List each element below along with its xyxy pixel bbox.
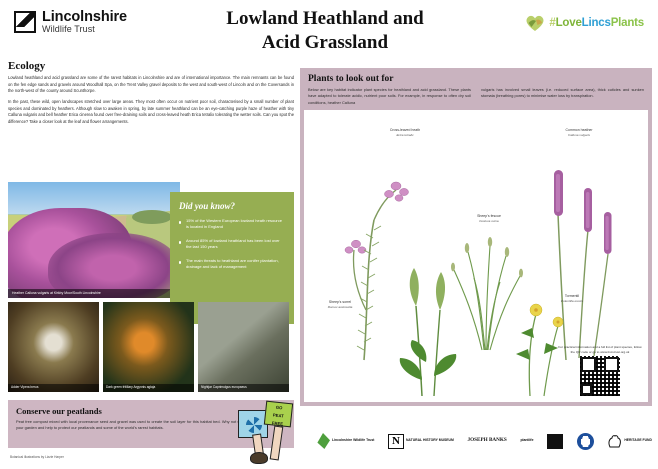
poster-root: Lincolnshire Wildlife Trust Lowland Heat… [0, 0, 658, 469]
glove-icon [250, 452, 268, 464]
nightjar-photo: Nightjar Caprimulgus europaeus [198, 302, 289, 392]
go-peat-free-placard: GO PEAT FREE [264, 401, 293, 428]
list-item: The main threats to heathland are conife… [179, 258, 285, 271]
joseph-banks-partner-logo: JOSEPH BANKS [467, 438, 506, 443]
org-name: Lincolnshire [42, 10, 127, 25]
campaign-word-lincs: Lincs [582, 17, 611, 29]
did-you-know-heading: Did you know? [179, 201, 285, 211]
plant-label-common-heather: Common heather Calluna vulgaris [544, 128, 614, 137]
plants-heading: Plants to look out for [308, 74, 644, 84]
plant-scientific-name: Calluna vulgaris [544, 133, 614, 137]
common-heather-illustration [554, 170, 612, 360]
ecology-section: Ecology Lowland heathland and acid grass… [8, 60, 294, 129]
partner-label: JOSEPH BANKS [467, 438, 506, 443]
plant-scientific-name: Festuca ovina [456, 219, 522, 223]
photo-trees [132, 210, 172, 224]
national-lottery-partner-logo [577, 433, 594, 450]
ecology-paragraph-2: In the past, these wild, open landscapes… [8, 99, 294, 126]
poster-header: Lincolnshire Wildlife Trust Lowland Heat… [0, 0, 658, 52]
park-mark-icon [547, 434, 563, 449]
cross-leaved-heath-illustration [345, 182, 409, 360]
plants-panel: Plants to look out for Below are key hab… [300, 68, 652, 406]
national-park-partner-logo [547, 434, 563, 449]
page-title-line2: Acid Grassland [160, 31, 490, 55]
partner-label: plantlife [520, 439, 533, 443]
plants-intro-col2: vulgaris has involved small leaves (i.e.… [481, 87, 644, 106]
qr-block[interactable]: For practical information and a full lis… [558, 345, 642, 396]
ecology-heading: Ecology [8, 60, 294, 72]
natural-history-museum-partner-logo: N NATURAL HISTORY MUSEUM [388, 434, 454, 449]
plants-intro-col1: Below are key habitat indicator plant sp… [308, 87, 471, 106]
lovelincsplants-logo: #LoveLincsPlants [525, 14, 644, 32]
thumb-caption: Nightjar Caprimulgus europaeus [198, 384, 289, 392]
partner-label: NATURAL HISTORY MUSEUM [406, 439, 454, 443]
org-subtitle: Wildlife Trust [42, 25, 127, 34]
sheeps-fescue-illustration [454, 246, 520, 350]
leaf-icon [316, 433, 330, 449]
plant-label-sheeps-sorrel: Sheep's sorrel Rumex acetosella [308, 300, 372, 309]
page-title: Lowland Heathland and Acid Grassland [160, 7, 490, 55]
plant-label-cross-leaved-heath: Cross-leaved heath Erica tetralix [370, 128, 440, 137]
plants-header: Plants to look out for [300, 68, 652, 84]
illustration-credit: Botanical illustrations by Lizzie Harper [10, 455, 64, 459]
tormentil-illustration [516, 304, 563, 396]
species-photo-strip: Adder Vipera berus Dark green fritillary… [8, 302, 294, 392]
plant-label-sheeps-fescue: Sheep's fescue Festuca ovina [456, 214, 522, 223]
badger-logo-icon [14, 11, 36, 33]
plant-scientific-name: Rumex acetosella [308, 305, 372, 309]
botanical-illustration-canvas: Cross-leaved heath Erica tetralix Common… [304, 110, 648, 402]
sheeps-fescue-seedheads [451, 237, 523, 277]
did-you-know-list: 15% of the Western European lowland heat… [179, 218, 285, 271]
ecology-paragraph-1: Lowland heathland and acid grassland are… [8, 75, 294, 95]
plants-intro: Below are key habitat indicator plant sp… [300, 87, 652, 106]
campaign-word-love: Love [556, 17, 582, 29]
adder-photo: Adder Vipera berus [8, 302, 99, 392]
lottery-fingers-icon [577, 433, 594, 450]
qr-code[interactable] [580, 356, 620, 396]
sheeps-sorrel-illustration [400, 268, 457, 396]
list-item: 15% of the Western European lowland heat… [179, 218, 285, 231]
arm-right-icon [270, 426, 284, 461]
campaign-word-plants: Plants [611, 17, 644, 29]
heritage-hand-icon [607, 434, 622, 448]
plant-scientific-name: Potentilla erecta [540, 299, 604, 303]
page-title-line1: Lowland Heathland and [160, 7, 490, 31]
partner-label: Lincolnshire Wildlife Trust [332, 439, 374, 443]
heart-leaf-icon [525, 14, 545, 32]
thumb-caption: Dark green fritillary Argynnis aglaja [103, 384, 194, 392]
photo-caption: Heather Calluna vulgaris at Kirkby Moor/… [8, 289, 180, 298]
fritillary-photo: Dark green fritillary Argynnis aglaja [103, 302, 194, 392]
partner-logo-row: Lincolnshire Wildlife Trust N NATURAL HI… [316, 424, 652, 458]
plantlife-partner-logo: plantlife [520, 439, 533, 443]
heritage-fund-partner-logo: HERITAGE FUND [607, 434, 652, 448]
lincolnshire-wildlife-trust-logo: Lincolnshire Wildlife Trust [14, 10, 127, 35]
plant-scientific-name: Erica tetralix [370, 133, 440, 137]
ecology-body: Lowland heathland and acid grassland are… [8, 75, 294, 125]
partner-label: HERITAGE FUND [624, 439, 652, 443]
campaign-hashtag: #LoveLincsPlants [549, 17, 644, 29]
plant-label-tormentil: Tormentil Potentilla erecta [540, 294, 604, 303]
qr-note: For practical information and a full lis… [558, 345, 642, 354]
heathland-photo: Heather Calluna vulgaris at Kirkby Moor/… [8, 182, 180, 298]
nhm-monogram-icon: N [388, 434, 404, 449]
lincolnshire-wildlife-trust-partner-logo: Lincolnshire Wildlife Trust [316, 433, 374, 449]
list-item: Around 85% of lowland heathland has been… [179, 238, 285, 251]
thumb-caption: Adder Vipera berus [8, 384, 99, 392]
go-peat-free-illustration: GO PEAT FREE [232, 396, 298, 466]
